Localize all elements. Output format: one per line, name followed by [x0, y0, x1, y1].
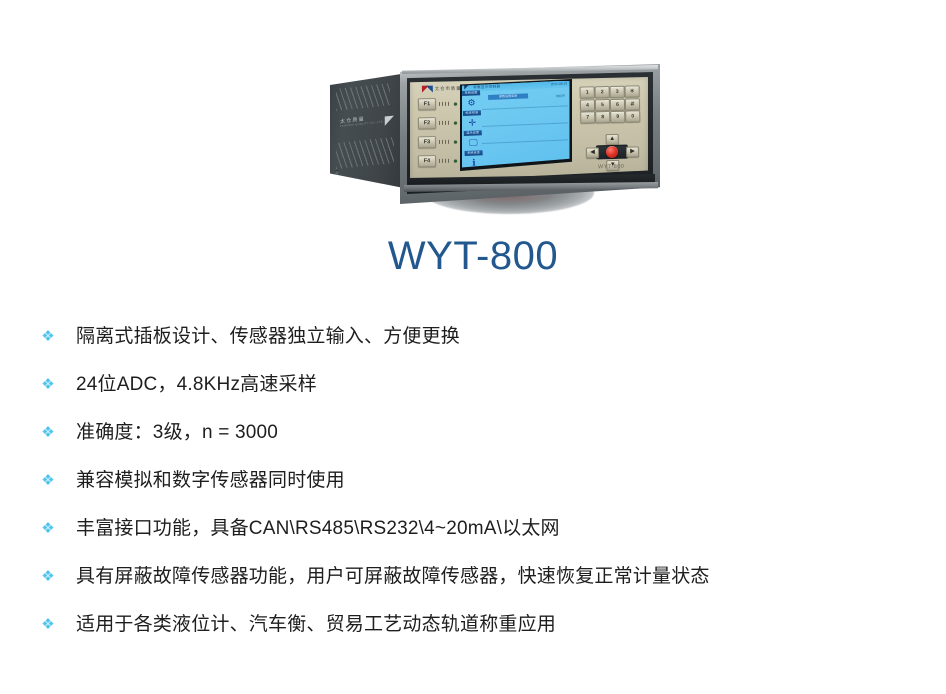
side-vent-slots-lower [336, 137, 394, 169]
product-image: 太仓质量 TAICANG QUALITY CO.,LTD ◤ ◤ ◥ 太仓市质量… [0, 0, 946, 225]
f4-dot-leader-icon [439, 159, 451, 163]
lcd-divider-3 [482, 139, 568, 143]
f1-dot-leader-icon [439, 102, 451, 106]
device-model-label: WYT-800 [598, 164, 625, 171]
lcd-sidebar: 系统设置 ⚙ 标定校准 ✛ 显示设置 🖵 系统信息 ℹ [462, 90, 483, 168]
monitor-icon[interactable]: 🖵 [463, 136, 482, 150]
side-vent-slots-upper [336, 83, 390, 111]
feature-text: 适用于各类液位计、汽车衡、贸易工艺动态轨道称重应用 [76, 611, 556, 639]
f3-led-icon [454, 140, 457, 143]
key-f4[interactable]: F4 [418, 155, 436, 167]
function-key-row-f2[interactable]: F2 [418, 117, 457, 130]
device-weighing-indicator: 太仓质量 TAICANG QUALITY CO.,LTD ◤ ◤ ◥ 太仓市质量… [330, 64, 660, 204]
side-brand-mark-icon: ◤ [385, 113, 394, 126]
f2-dot-leader-icon [439, 121, 451, 125]
numeric-keypad[interactable]: 1 2 3 ＊ 4 5 6 ＃ 7 8 9 0 [580, 85, 643, 126]
feature-text: 准确度：3级，n = 3000 [76, 419, 278, 447]
f1-led-icon [454, 102, 457, 105]
crosshair-icon[interactable]: ✛ [463, 116, 482, 130]
list-item: ❖ 丰富接口功能，具备CAN\RS485\RS232\4~20mA\以太网 [0, 505, 946, 553]
feature-text: 兼容模拟和数字传感器同时使用 [76, 467, 345, 495]
lcd-content-header-row: 参数设置菜单 [488, 93, 528, 100]
arrow-right-icon[interactable]: ▶ [626, 146, 639, 157]
key-f3[interactable]: F3 [418, 136, 436, 148]
lcd-content-status: 待机中 [556, 93, 565, 98]
list-item: ❖ 兼容模拟和数字传感器同时使用 [0, 457, 946, 505]
bullet-diamond-icon: ❖ [40, 473, 56, 489]
function-key-row-f3[interactable]: F3 [418, 136, 457, 149]
list-item: ❖ 隔离式插板设计、传感器独立输入、方便更换 [0, 313, 946, 361]
keypad-key-4[interactable]: ＊ [625, 85, 640, 97]
lcd-divider-1 [482, 105, 568, 109]
f2-led-icon [454, 121, 457, 124]
page-title: WYT-800 [0, 232, 946, 280]
arrow-left-icon[interactable]: ◀ [586, 147, 599, 158]
brand-mark-blue-icon: ◥ [426, 84, 433, 93]
lcd-divider-2 [482, 122, 568, 126]
feature-list: ❖ 隔离式插板设计、传感器独立输入、方便更换 ❖ 24位ADC，4.8KHz高速… [0, 313, 946, 649]
lcd-sidebar-label-1[interactable]: 标定校准 [462, 110, 480, 116]
function-key-column: F1 F2 F3 F4 [418, 98, 458, 176]
keypad-key-11[interactable]: 9 [610, 111, 625, 123]
bullet-diamond-icon: ❖ [40, 329, 56, 345]
keypad-key-6[interactable]: 5 [595, 99, 610, 111]
keypad-key-9[interactable]: 7 [580, 111, 595, 123]
keypad-key-7[interactable]: 6 [610, 98, 625, 110]
info-icon[interactable]: ℹ [464, 156, 483, 168]
lcd-sidebar-label-3[interactable]: 系统信息 [464, 150, 482, 156]
keypad-key-5[interactable]: 4 [580, 99, 595, 111]
bullet-diamond-icon: ❖ [40, 617, 56, 633]
list-item: ❖ 具有屏蔽故障传感器功能，用户可屏蔽故障传感器，快速恢复正常计量状态 [0, 553, 946, 601]
keypad-key-12[interactable]: 0 [625, 110, 640, 122]
lcd-sidebar-label-2[interactable]: 显示设置 [463, 130, 481, 136]
feature-text: 24位ADC，4.8KHz高速采样 [76, 371, 317, 399]
keypad-key-8[interactable]: ＃ [625, 98, 640, 110]
side-brand-logo: 太仓质量 TAICANG QUALITY CO.,LTD ◤ [340, 113, 396, 139]
keypad-key-2[interactable]: 2 [595, 86, 610, 98]
side-screw-icon [335, 170, 339, 175]
function-key-row-f1[interactable]: F1 [418, 98, 457, 111]
list-item: ❖ 适用于各类液位计、汽车衡、贸易工艺动态轨道称重应用 [0, 601, 946, 649]
feature-text: 隔离式插板设计、传感器独立输入、方便更换 [76, 323, 460, 351]
list-item: ❖ 24位ADC，4.8KHz高速采样 [0, 361, 946, 409]
gear-icon[interactable]: ⚙ [462, 96, 481, 110]
bullet-diamond-icon: ❖ [40, 569, 56, 585]
bullet-diamond-icon: ❖ [40, 521, 56, 537]
function-key-row-f4[interactable]: F4 [418, 155, 457, 168]
bullet-diamond-icon: ❖ [40, 425, 56, 441]
key-f1[interactable]: F1 [418, 98, 436, 110]
keypad-key-3[interactable]: 3 [610, 86, 625, 98]
f4-led-icon [454, 159, 457, 162]
lcd-title-status: 2012-08-15 [550, 81, 567, 87]
feature-text: 丰富接口功能，具备CAN\RS485\RS232\4~20mA\以太网 [76, 515, 560, 543]
list-item: ❖ 准确度：3级，n = 3000 [0, 409, 946, 457]
key-f2[interactable]: F2 [418, 117, 436, 129]
panel-brand-text: 太仓市质量 [435, 85, 462, 92]
lcd-screen[interactable]: ◤ 称重显示控制器 2012-08-15 系统设置 ⚙ 标定校准 ✛ 显示设置 … [462, 81, 570, 168]
bullet-diamond-icon: ❖ [40, 377, 56, 393]
feature-text: 具有屏蔽故障传感器功能，用户可屏蔽故障传感器，快速恢复正常计量状态 [76, 563, 710, 591]
lcd-sidebar-label-0[interactable]: 系统设置 [462, 90, 480, 96]
keypad-key-10[interactable]: 8 [595, 111, 610, 123]
keypad-key-1[interactable]: 1 [580, 86, 595, 98]
f3-dot-leader-icon [439, 140, 451, 144]
arrow-up-icon[interactable]: ▲ [606, 134, 619, 145]
